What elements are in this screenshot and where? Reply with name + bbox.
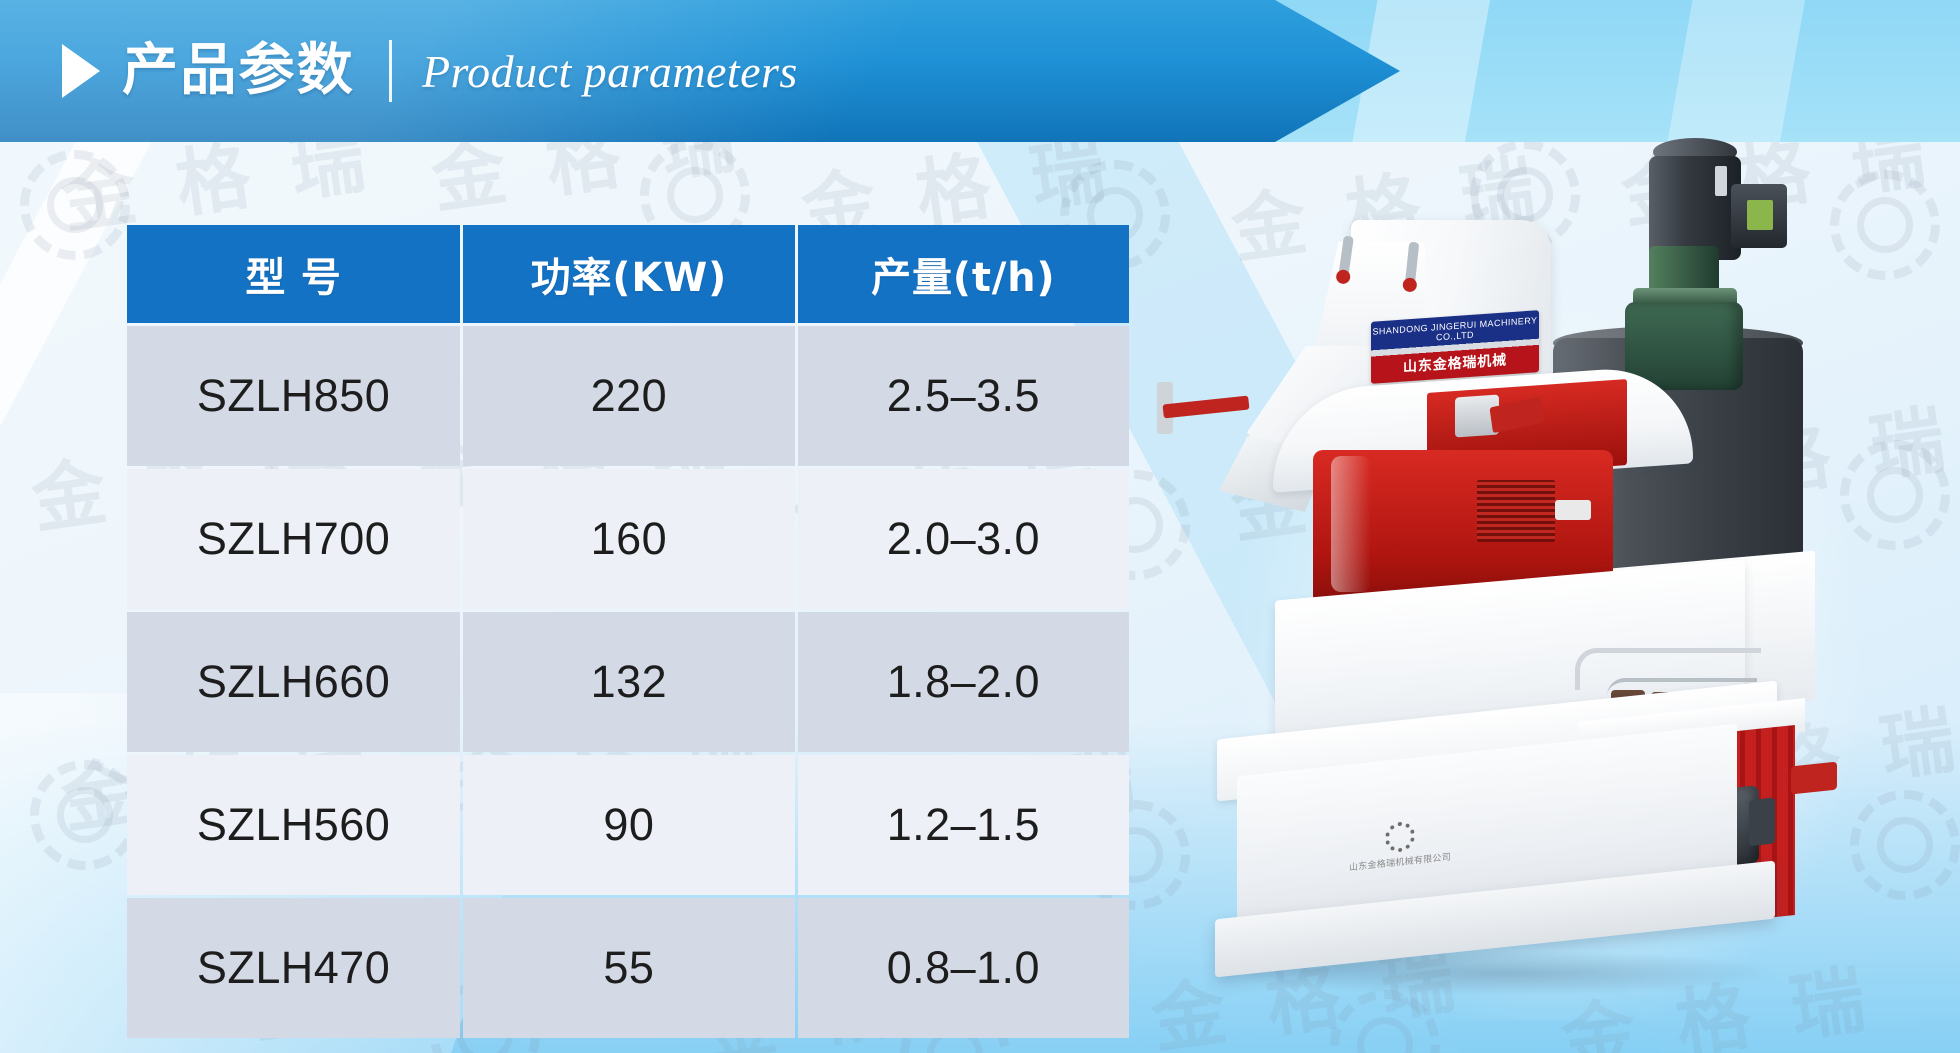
product-parameters-page: 金 格 瑞金 格 瑞金 格 瑞金 格 瑞金 格 瑞金 格 瑞金 格 瑞金 格 瑞… <box>0 0 1960 1053</box>
page-header: 产品参数 Product parameters <box>0 0 1960 142</box>
cell-power: 90 <box>463 755 795 895</box>
cell-output: 0.8–1.0 <box>798 898 1129 1038</box>
cell-power: 132 <box>463 612 795 752</box>
cell-power: 160 <box>463 469 795 609</box>
cell-output: 1.2–1.5 <box>798 755 1129 895</box>
cell-model: SZLH560 <box>127 755 460 895</box>
machine-nameplate: SHANDONG JINGERUI MACHINERY CO.,LTD 山东金格… <box>1371 310 1539 384</box>
pellet-mill-machine-image: SHANDONG JINGERUI MACHINERY CO.,LTD 山东金格… <box>1155 150 1955 1050</box>
header-title-en: Product parameters <box>422 45 798 98</box>
cell-model: SZLH700 <box>127 469 460 609</box>
header-divider <box>389 40 392 102</box>
machine-red-valve <box>1791 762 1837 795</box>
column-header-output: 产量(t/h) <box>798 225 1129 323</box>
company-gear-logo-icon <box>1385 820 1415 853</box>
table-row: SZLH470550.8–1.0 <box>127 898 1129 1038</box>
company-name-text: 山东金格瑞机械有限公司 <box>1349 850 1451 874</box>
cell-power: 220 <box>463 326 795 466</box>
header-content: 产品参数 Product parameters <box>0 0 1400 142</box>
header-title-cn: 产品参数 <box>122 43 355 99</box>
machine-motor-stripe <box>1715 166 1727 196</box>
cell-model: SZLH850 <box>127 326 460 466</box>
table-row: SZLH8502202.5–3.5 <box>127 326 1129 466</box>
column-header-model: 型 号 <box>127 225 460 323</box>
machine-top-motor <box>1649 156 1741 260</box>
cell-output: 1.8–2.0 <box>798 612 1129 752</box>
machine-motor-label <box>1747 200 1773 230</box>
machine-drum-highlight <box>1331 456 1371 592</box>
cell-output: 2.0–3.0 <box>798 469 1129 609</box>
machine-drum-lug <box>1555 500 1591 520</box>
cell-output: 2.5–3.5 <box>798 326 1129 466</box>
table-row: SZLH6601321.8–2.0 <box>127 612 1129 752</box>
table-head: 型 号 功率(KW) 产量(t/h) <box>127 225 1129 323</box>
play-triangle-icon <box>62 44 100 98</box>
cell-model: SZLH470 <box>127 898 460 1038</box>
table-header-row: 型 号 功率(KW) 产量(t/h) <box>127 225 1129 323</box>
machine-drum-vent-grill <box>1477 480 1555 542</box>
table-body: SZLH8502202.5–3.5SZLH7001602.0–3.0SZLH66… <box>127 326 1129 1038</box>
cell-power: 55 <box>463 898 795 1038</box>
nameplate-english: SHANDONG JINGERUI MACHINERY CO.,LTD <box>1371 315 1539 347</box>
column-header-power: 功率(KW) <box>463 225 795 323</box>
table-row: SZLH560901.2–1.5 <box>127 755 1129 895</box>
product-parameters-table: 型 号 功率(KW) 产量(t/h) SZLH8502202.5–3.5SZLH… <box>124 222 1132 1041</box>
table-row: SZLH7001602.0–3.0 <box>127 469 1129 609</box>
cell-model: SZLH660 <box>127 612 460 752</box>
